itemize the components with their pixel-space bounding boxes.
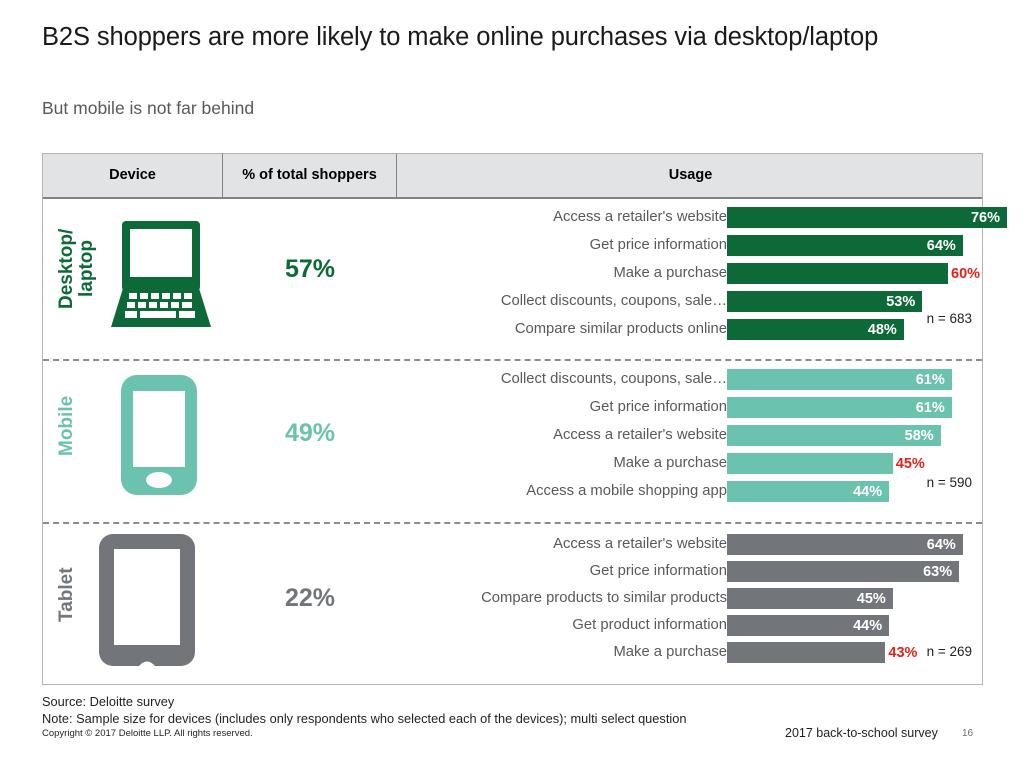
bar-value-label: 44% xyxy=(853,618,889,634)
bar-track: 76% xyxy=(727,207,982,228)
usage-bar-chart-2: Access a retailer's website64%Get price … xyxy=(397,522,982,685)
usage-category-label: Access a mobile shopping app xyxy=(397,481,727,502)
bar-track: 44% xyxy=(727,615,982,636)
sample-note: Note: Sample size for devices (includes … xyxy=(42,711,686,726)
usage-bar-row: Collect discounts, coupons, sale…53% xyxy=(397,291,982,312)
bar-track: 53% xyxy=(727,291,982,312)
usage-category-label: Collect discounts, coupons, sale… xyxy=(397,291,727,312)
bar-value-label: 45% xyxy=(857,591,893,607)
column-header-device: Device xyxy=(43,154,223,197)
bar-value-label: 61% xyxy=(916,400,952,416)
device-name-mobile: Mobile xyxy=(57,381,77,471)
usage-bar: 64% xyxy=(727,235,963,256)
usage-bar-row: Compare similar products online48% xyxy=(397,319,982,340)
bar-value-label: 63% xyxy=(923,564,959,580)
bar-value-label: 76% xyxy=(971,210,1007,226)
bar-track: 45% xyxy=(727,588,982,609)
page-subtitle: But mobile is not far behind xyxy=(42,97,942,119)
usage-bar-row: Access a retailer's website64% xyxy=(397,534,982,555)
usage-bar: 58% xyxy=(727,425,941,446)
table-row-mobile: Mobile49%Collect discounts, coupons, sal… xyxy=(43,359,982,522)
tablet-icon xyxy=(95,530,199,675)
bar-track: 61% xyxy=(727,397,982,418)
usage-bar-chart-1: Collect discounts, coupons, sale…61%Get … xyxy=(397,359,982,522)
column-header-percent-of-total-shoppers: % of total shoppers xyxy=(223,154,397,197)
survey-name: 2017 back-to-school survey xyxy=(785,726,938,740)
table-header-row: Device % of total shoppers Usage xyxy=(43,154,982,199)
usage-bar: 48% xyxy=(727,319,904,340)
usage-bar-row: Get price information61% xyxy=(397,397,982,418)
sample-size-label: n = 269 xyxy=(927,644,972,659)
bar-track: 61% xyxy=(727,369,982,390)
usage-category-label: Access a retailer's website xyxy=(397,534,727,555)
section-divider-2 xyxy=(43,522,982,524)
usage-bar xyxy=(727,453,893,474)
source-note: Source: Deloitte survey xyxy=(42,694,174,709)
usage-bar: 61% xyxy=(727,369,952,390)
usage-bar xyxy=(727,263,948,284)
smartphone-icon xyxy=(117,371,201,504)
usage-category-label: Get product information xyxy=(397,615,727,636)
bar-value-label: 64% xyxy=(927,238,963,254)
usage-bar-row: Collect discounts, coupons, sale…61% xyxy=(397,369,982,390)
usage-bar: 76% xyxy=(727,207,1007,228)
usage-category-label: Make a purchase xyxy=(397,453,727,474)
usage-bar-row: Make a purchase43% xyxy=(397,642,982,663)
bar-track: 60% xyxy=(727,263,982,284)
usage-category-label: Compare similar products online xyxy=(397,319,727,340)
usage-bar: 53% xyxy=(727,291,922,312)
usage-category-label: Make a purchase xyxy=(397,263,727,284)
usage-category-label: Get price information xyxy=(397,561,727,582)
usage-bar-row: Access a retailer's website58% xyxy=(397,425,982,446)
table-row-desktop-laptop: Desktop/ laptop57%Access a retailer's we… xyxy=(43,199,982,359)
usage-category-label: Access a retailer's website xyxy=(397,207,727,228)
device-name-tablet: Tablet xyxy=(57,550,77,640)
bar-value-label: 48% xyxy=(868,322,904,338)
usage-bar-chart-0: Access a retailer's website76%Get price … xyxy=(397,199,982,359)
column-header-usage: Usage xyxy=(397,154,984,197)
bar-value-label-highlighted: 43% xyxy=(885,642,917,663)
usage-bar: 44% xyxy=(727,615,889,636)
share-of-total-shoppers-0: 57% xyxy=(223,255,397,284)
bar-value-label: 58% xyxy=(905,428,941,444)
bar-track: 64% xyxy=(727,534,982,555)
usage-category-label: Get price information xyxy=(397,235,727,256)
laptop-icon xyxy=(105,215,217,333)
share-of-total-shoppers-2: 22% xyxy=(223,584,397,613)
bar-track: 58% xyxy=(727,425,982,446)
bar-value-label-highlighted: 60% xyxy=(948,263,980,284)
share-of-total-shoppers-1: 49% xyxy=(223,419,397,448)
copyright-note: Copyright © 2017 Deloitte LLP. All right… xyxy=(42,728,253,739)
usage-bar-row: Make a purchase45% xyxy=(397,453,982,474)
usage-bar-row: Compare products to similar products45% xyxy=(397,588,982,609)
usage-category-label: Make a purchase xyxy=(397,642,727,663)
usage-bar xyxy=(727,642,885,663)
usage-category-label: Compare products to similar products xyxy=(397,588,727,609)
usage-bar-row: Access a retailer's website76% xyxy=(397,207,982,228)
bar-track: 63% xyxy=(727,561,982,582)
device-name-desktop-laptop: Desktop/ laptop xyxy=(57,205,97,333)
usage-bar: 61% xyxy=(727,397,952,418)
sample-size-label: n = 590 xyxy=(927,475,972,490)
tablet-icon xyxy=(95,530,199,670)
bar-value-label: 53% xyxy=(886,294,922,310)
device-usage-table: Device % of total shoppers Usage Desktop… xyxy=(42,153,983,685)
sample-size-label: n = 683 xyxy=(927,311,972,326)
table-row-tablet: Tablet22%Access a retailer's website64%G… xyxy=(43,522,982,685)
laptop-icon xyxy=(105,215,217,338)
usage-bar-row: Make a purchase60% xyxy=(397,263,982,284)
bar-track: 45% xyxy=(727,453,982,474)
section-divider-1 xyxy=(43,359,982,361)
usage-bar: 44% xyxy=(727,481,889,502)
bar-value-label: 61% xyxy=(916,372,952,388)
usage-bar: 45% xyxy=(727,588,893,609)
bar-value-label: 44% xyxy=(853,484,889,500)
usage-category-label: Access a retailer's website xyxy=(397,425,727,446)
usage-bar-row: Get price information63% xyxy=(397,561,982,582)
bar-value-label: 64% xyxy=(927,537,963,553)
usage-category-label: Collect discounts, coupons, sale… xyxy=(397,369,727,390)
smartphone-icon xyxy=(117,371,201,499)
usage-bar-row: Get product information44% xyxy=(397,615,982,636)
page-number: 16 xyxy=(962,728,973,739)
bar-track: 64% xyxy=(727,235,982,256)
usage-bar-row: Access a mobile shopping app44% xyxy=(397,481,982,502)
bar-value-label-highlighted: 45% xyxy=(893,453,925,474)
page-title: B2S shoppers are more likely to make onl… xyxy=(42,22,942,53)
usage-category-label: Get price information xyxy=(397,397,727,418)
usage-bar: 63% xyxy=(727,561,959,582)
usage-bar-row: Get price information64% xyxy=(397,235,982,256)
usage-bar: 64% xyxy=(727,534,963,555)
